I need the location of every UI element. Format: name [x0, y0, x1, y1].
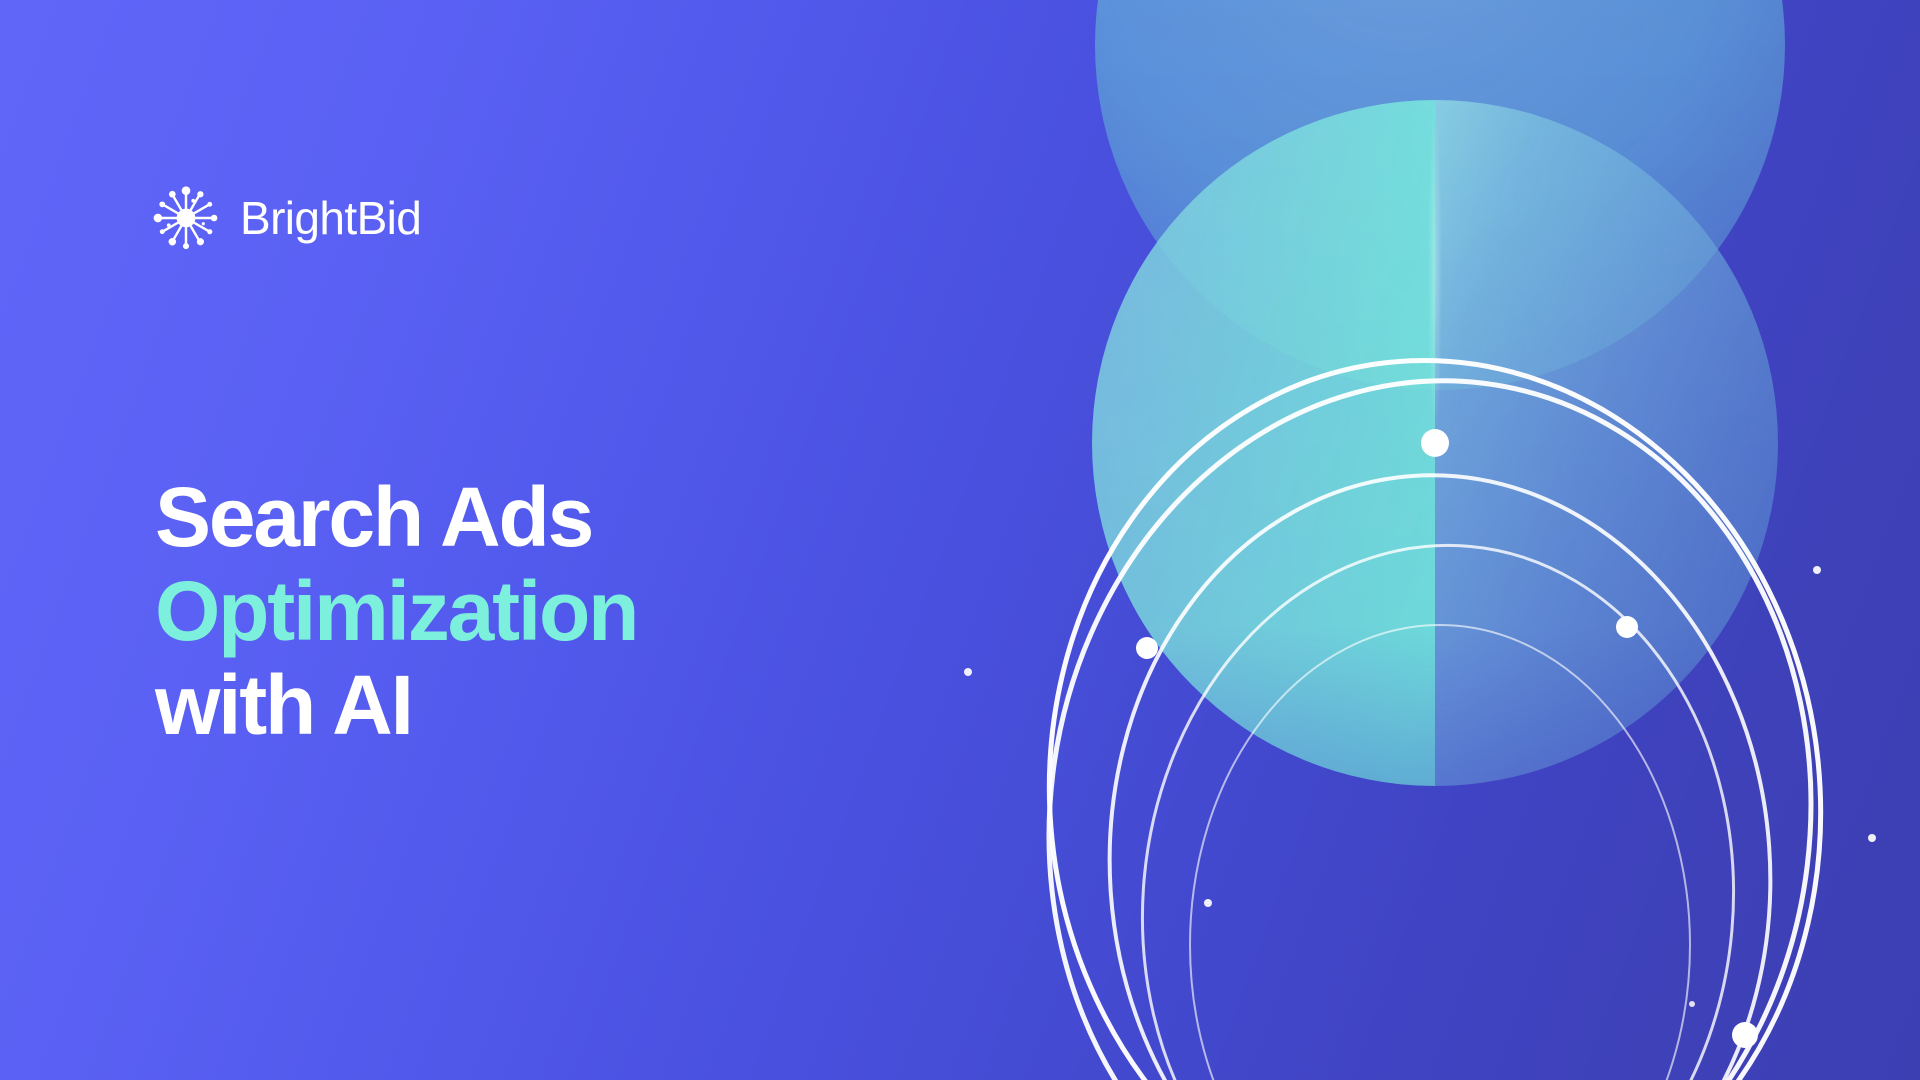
orbit-node-right: [1616, 616, 1638, 638]
orbit-ring-5: [1190, 625, 1690, 1080]
orbit-ring-4: [1113, 521, 1764, 1080]
brightbid-sunburst-node-icon: [150, 182, 222, 254]
sparkle-dot: [964, 668, 972, 676]
headline-line-3: with AI: [155, 658, 637, 752]
artwork-orbit-rings: [999, 322, 1864, 1080]
artwork-pie-sector-left: [1092, 100, 1435, 786]
orbit-node-left: [1136, 637, 1158, 659]
brand-wordmark: BrightBid: [240, 195, 421, 241]
hero-headline: Search Ads Optimization with AI: [155, 470, 637, 752]
artwork-sparkle-dots: [964, 566, 1876, 1007]
artwork-large-circle: [1095, 0, 1785, 390]
orbit-node-bottom-right: [1732, 1022, 1758, 1048]
hero-banner: BrightBid Search Ads Optimization with A…: [0, 0, 1920, 1080]
headline-line-2-accent: Optimization: [155, 564, 637, 658]
sparkle-dot: [1204, 899, 1212, 907]
sparkle-dot: [1689, 1001, 1695, 1007]
orbit-node-top: [1421, 429, 1449, 457]
orbit-ring-2: [999, 337, 1861, 1080]
artwork-pie-seam: [1428, 100, 1442, 443]
headline-line-1: Search Ads: [155, 470, 637, 564]
orbit-ring-3: [1083, 453, 1797, 1080]
sparkle-dot: [1868, 834, 1876, 842]
artwork-orbit-nodes: [1136, 429, 1758, 1048]
brand-logo-lockup[interactable]: BrightBid: [150, 182, 421, 254]
orbit-ring-1: [1006, 322, 1864, 1080]
sparkle-dot: [1813, 566, 1821, 574]
artwork-pie-sector-right: [1435, 100, 1778, 786]
